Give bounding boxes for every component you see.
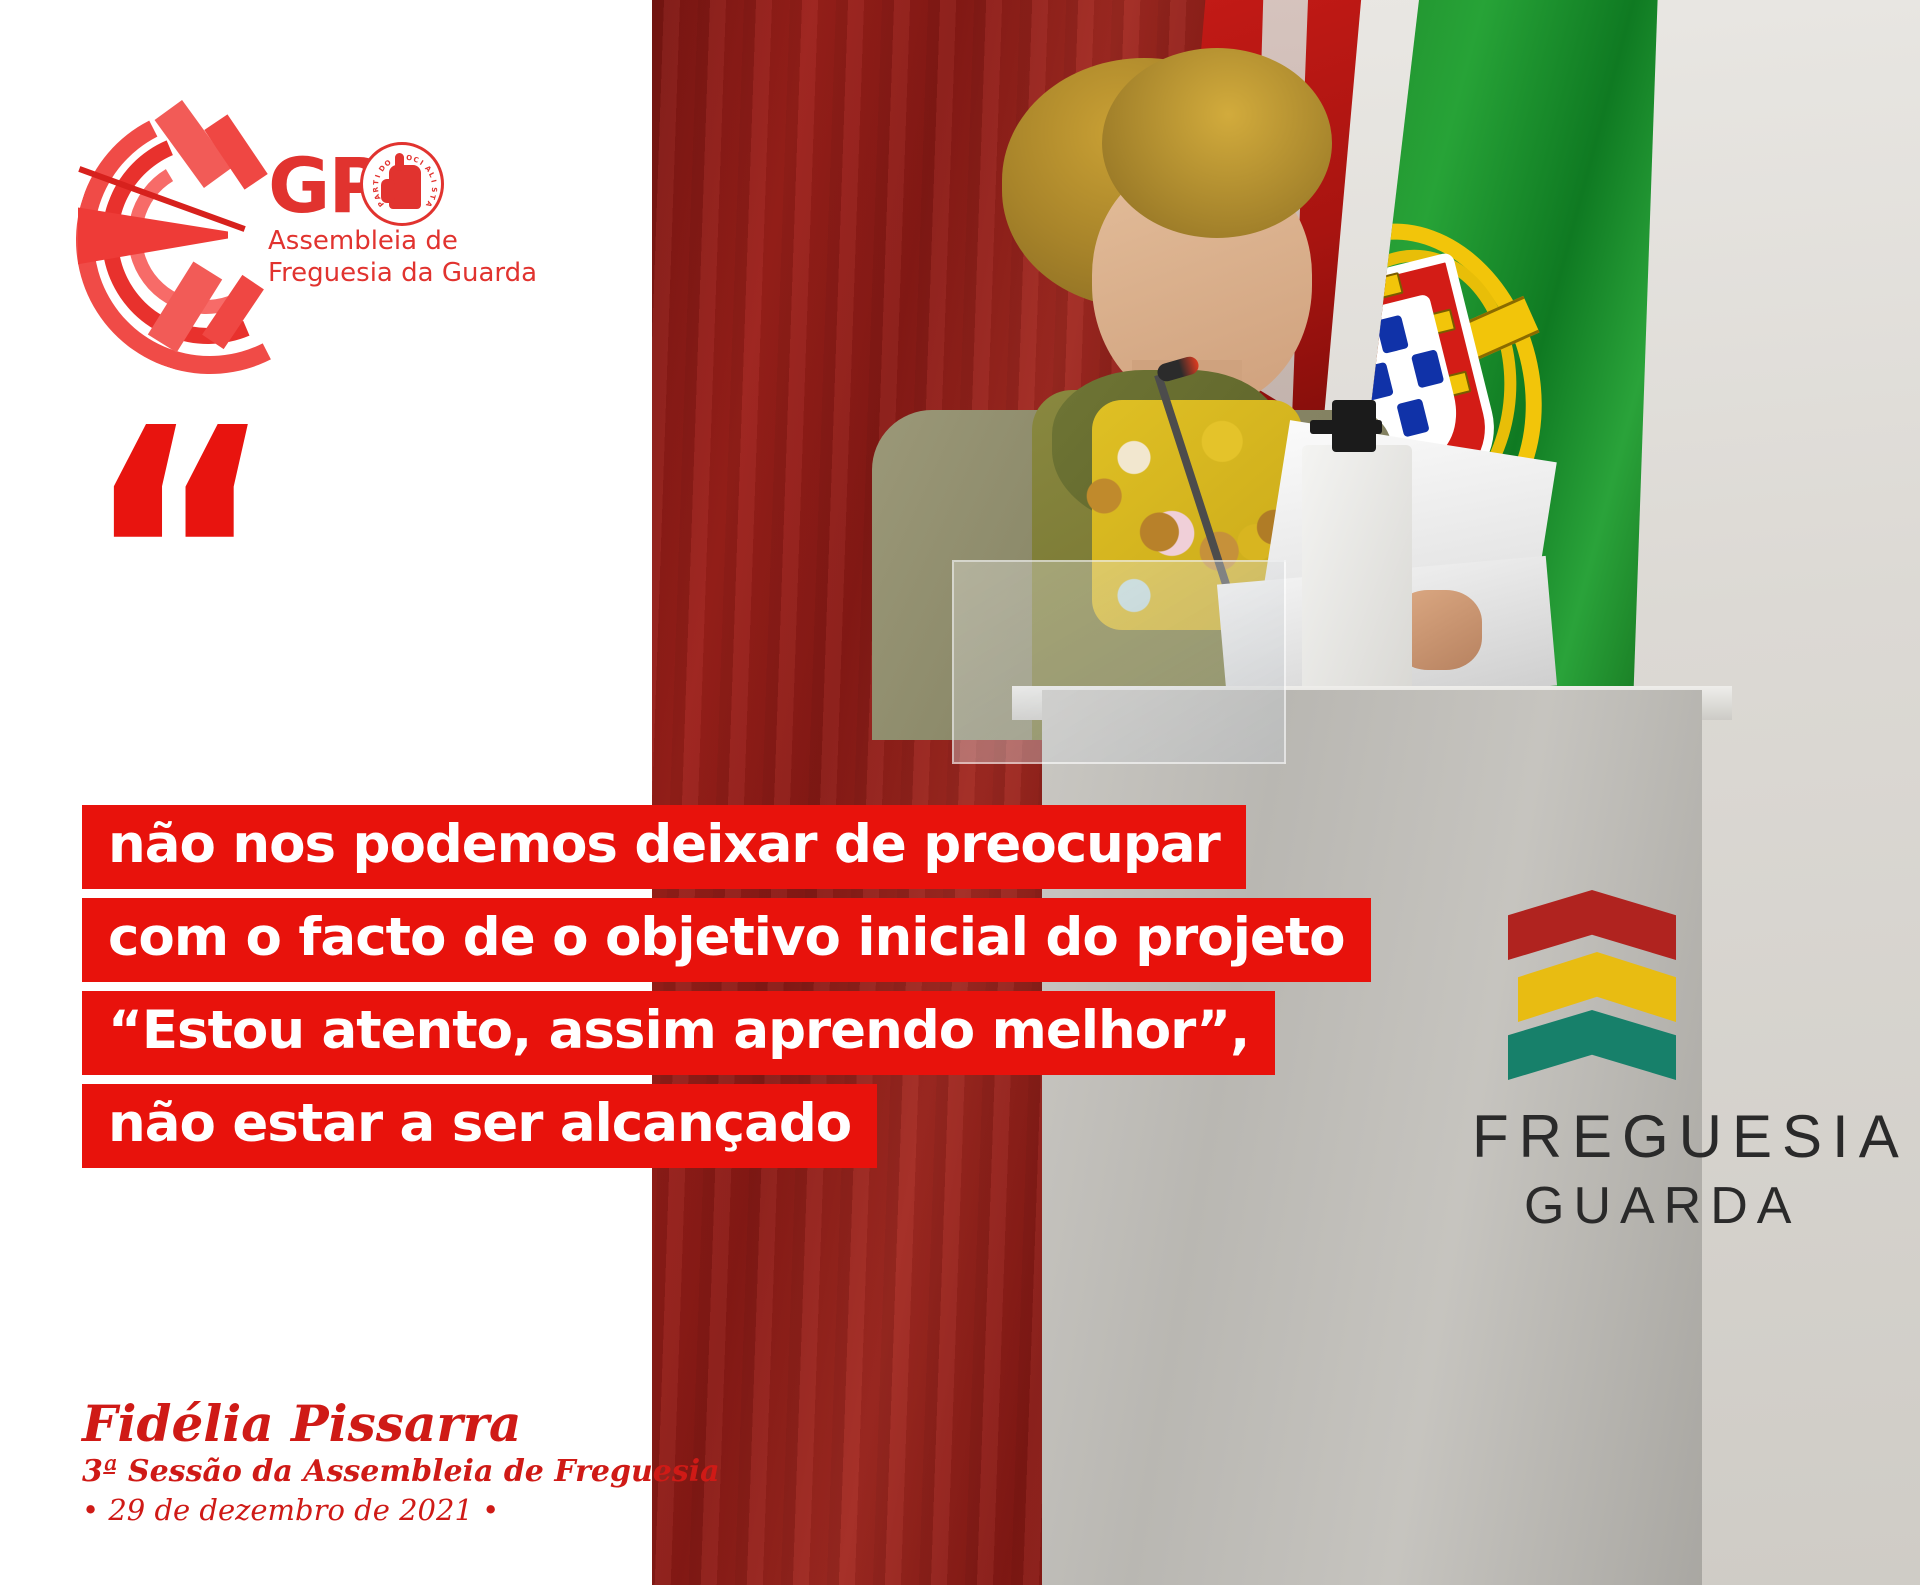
gps-subtitle-line1: Assembleia de [268,226,537,256]
podium-glass-panel [952,560,1286,764]
ps-seal-icon: PARTIDO SOCIALISTA [360,142,444,226]
attribution-block: Fidélia Pissarra 3ª Sessão da Assembleia… [82,1395,720,1529]
quote-line: com o facto de o objetivo inicial do pro… [82,898,1371,982]
gps-subtitle-line2: Freguesia da Guarda [268,258,537,288]
speaker-name: Fidélia Pissarra [82,1395,720,1453]
chevron-green [1508,1010,1676,1080]
hair-front [1102,48,1332,238]
event-date: • 29 de dezembro de 2021 • [82,1491,720,1529]
gps-logo: GPS Assembleia de Freguesia da Guarda PA… [72,96,542,346]
quote-line: não estar a ser alcançado [82,1084,877,1168]
podium-word-freguesia: FREGUESIA [1472,1102,1802,1171]
photo-panel: FREGUESIA GUARDA [652,0,1920,1585]
poster-canvas: FREGUESIA GUARDA GPS Assembleia de Fregu… [0,0,1920,1585]
hexagon-chevron-logo [1508,890,1678,1080]
raised-fist-icon [389,165,421,209]
gps-wordmark: GPS Assembleia de Freguesia da Guarda PA… [268,148,537,288]
sanitizer-nozzle [1310,420,1382,434]
opening-quote-mark: “ [84,452,265,677]
freguesia-guarda-logo: FREGUESIA GUARDA [1472,890,1702,1190]
podium-word-guarda: GUARDA [1524,1176,1854,1236]
session-label: 3ª Sessão da Assembleia de Freguesia [82,1453,720,1491]
chevron-red [1508,890,1676,960]
quote-line: “Estou atento, assim aprendo melhor”, [82,991,1275,1075]
quote-block: não nos podemos deixar de preocuparcom o… [82,805,1371,1177]
quote-line: não nos podemos deixar de preocupar [82,805,1246,889]
hand-sanitizer-bottle [1302,445,1412,695]
